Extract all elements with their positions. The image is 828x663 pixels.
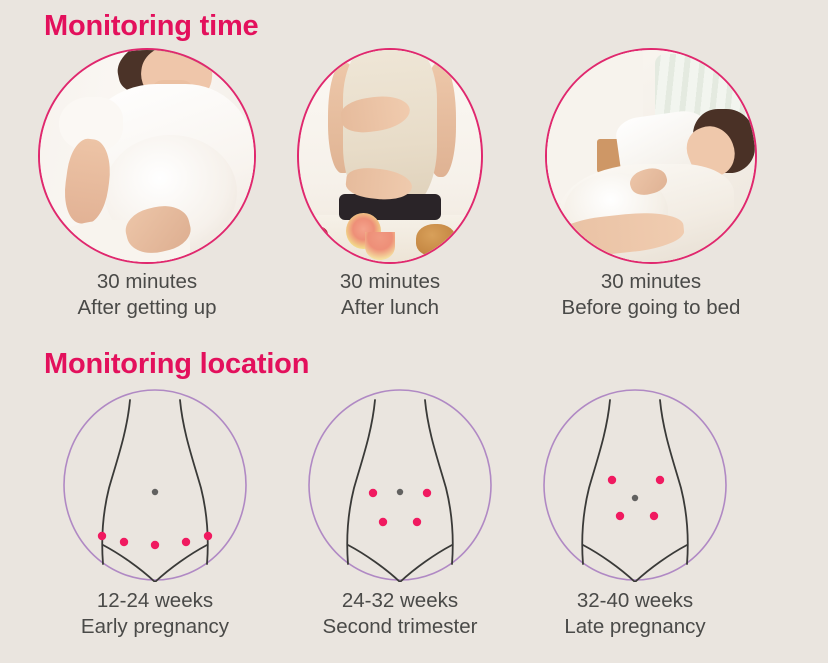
caption-occasion-3: Before going to bed	[545, 295, 757, 321]
diagram-outline-circle	[309, 390, 491, 580]
monitoring-location-caption-1: 12-24 weeks Early pregnancy	[62, 588, 248, 640]
caption-stage-2: Second trimester	[307, 614, 493, 640]
pregnant-woman-with-fruit-breakfast-photo	[297, 48, 483, 264]
monitoring-time-card-1	[38, 48, 256, 264]
monitoring-time-card-3	[545, 48, 757, 264]
caption-stage-1: Early pregnancy	[62, 614, 248, 640]
monitoring-dot	[120, 538, 128, 546]
monitoring-time-photo-row	[0, 48, 828, 268]
pregnant-woman-resting-in-bed-photo	[545, 48, 757, 264]
monitoring-time-caption-2: 30 minutes After lunch	[297, 269, 483, 321]
monitoring-time-card-2	[297, 48, 483, 264]
monitoring-time-caption-1: 30 minutes After getting up	[38, 269, 256, 321]
monitoring-dot	[379, 518, 387, 526]
torso-right-contour	[425, 400, 453, 564]
caption-weeks-3: 32-40 weeks	[542, 588, 728, 614]
monitoring-time-heading: Monitoring time	[44, 10, 258, 43]
torso-diagram-late-pregnancy	[542, 388, 728, 582]
monitoring-dot	[650, 512, 658, 520]
monitoring-dot	[608, 476, 616, 484]
caption-duration-2: 30 minutes	[297, 269, 483, 295]
caption-duration-1: 30 minutes	[38, 269, 256, 295]
torso-left-contour	[582, 400, 610, 564]
torso-diagram-second-trimester	[307, 388, 493, 582]
monitoring-dot	[204, 532, 212, 540]
caption-weeks-2: 24-32 weeks	[307, 588, 493, 614]
monitoring-dot	[182, 538, 190, 546]
navel-marker	[152, 489, 158, 495]
pregnant-woman-standing-white-top-photo	[38, 48, 256, 264]
caption-duration-3: 30 minutes	[545, 269, 757, 295]
diagram-outline-circle	[544, 390, 726, 580]
monitoring-time-caption-3: 30 minutes Before going to bed	[545, 269, 757, 321]
monitoring-location-caption-3: 32-40 weeks Late pregnancy	[542, 588, 728, 640]
monitoring-location-diagram-row	[0, 388, 828, 584]
caption-stage-3: Late pregnancy	[542, 614, 728, 640]
monitoring-dot	[616, 512, 624, 520]
monitoring-dot	[656, 476, 664, 484]
navel-marker	[632, 495, 638, 501]
caption-occasion-2: After lunch	[297, 295, 483, 321]
torso-diagram-early-pregnancy	[62, 388, 248, 582]
torso-right-contour	[660, 400, 688, 564]
navel-marker	[397, 489, 403, 495]
monitoring-dot	[369, 489, 377, 497]
monitoring-dot	[98, 532, 106, 540]
monitoring-dot	[413, 518, 421, 526]
torso-left-contour	[347, 400, 375, 564]
infographic-page: Monitoring time	[0, 0, 828, 663]
monitoring-dot	[151, 541, 159, 549]
caption-occasion-1: After getting up	[38, 295, 256, 321]
diagram-outline-circle	[64, 390, 246, 580]
monitoring-location-caption-2: 24-32 weeks Second trimester	[307, 588, 493, 640]
caption-weeks-1: 12-24 weeks	[62, 588, 248, 614]
monitoring-dot	[423, 489, 431, 497]
monitoring-location-heading: Monitoring location	[44, 348, 309, 381]
